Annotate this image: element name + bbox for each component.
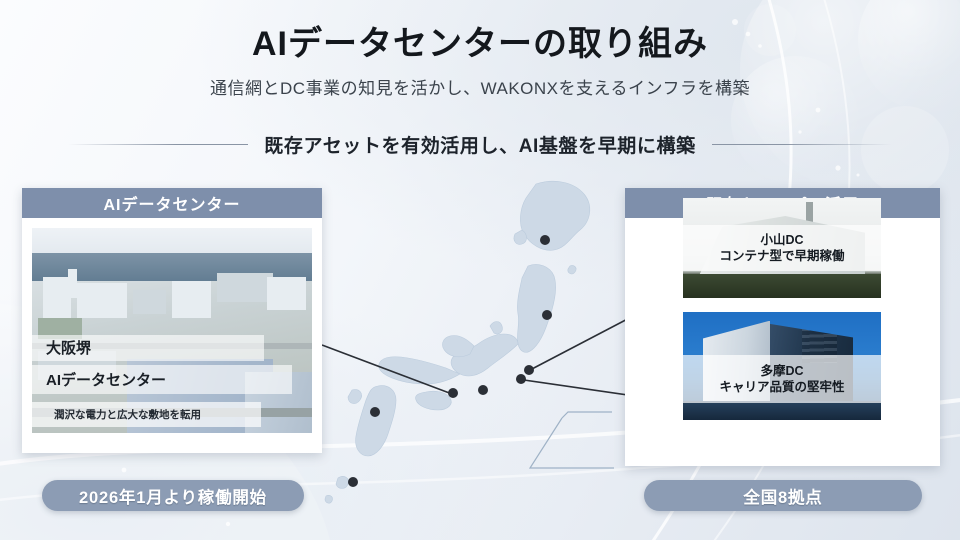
tama-name: 多摩DC [683, 363, 881, 379]
oyama-desc: コンテナ型で早期稼働 [683, 248, 881, 264]
tama-caption: 多摩DC キャリア品質の堅牢性 [683, 355, 881, 403]
oyama-dc-photo: 小山DC コンテナ型で早期稼働 [683, 198, 881, 298]
left-panel-header: AIデータセンター [22, 188, 322, 218]
section-heading-row: 既存アセットを有効活用し、AI基盤を早期に構築 [0, 131, 960, 158]
photo-chimney [68, 269, 76, 298]
photo-building [133, 290, 167, 315]
tama-dc-photo: 多摩DC キャリア品質の堅牢性 [683, 312, 881, 420]
page-subtitle: 通信網とDC事業の知見を活かし、WAKONXを支えるインフラを構築 [0, 74, 960, 99]
photo-chimney [806, 202, 813, 222]
japan-map [322, 178, 642, 518]
section-heading: 既存アセットを有効活用し、AI基盤を早期に構築 [264, 131, 695, 158]
right-panel-card: 既存キャンパス活用 小山DC コンテナ型で早期稼働 多摩DC キャリア品質の堅牢… [625, 188, 940, 466]
section-rule-left [68, 144, 248, 145]
section-rule-right [712, 144, 892, 145]
right-panel-badge: 全国8拠点 [644, 480, 922, 511]
slide-root: AIデータセンターの取り組み 通信網とDC事業の知見を活かし、WAKONXを支え… [0, 0, 960, 540]
osaka-caption-sub: 潤沢な電力と広大な敷地を転用 [32, 402, 261, 427]
photo-building [172, 281, 211, 318]
photo-building [43, 277, 71, 322]
oyama-caption: 小山DC コンテナ型で早期稼働 [683, 225, 881, 271]
tama-desc: キャリア品質の堅牢性 [683, 379, 881, 395]
osaka-datacenter-photo: 大阪堺 AIデータセンター 潤沢な電力と広大な敷地を転用 [32, 228, 312, 433]
photo-building [267, 277, 306, 310]
osaka-caption-line2: AIデータセンター [32, 365, 292, 394]
photo-building [217, 273, 273, 302]
photo-lowrise [683, 401, 881, 420]
photo-trees [683, 274, 881, 298]
left-panel-card: AIデータセンター 大阪堺 AIデータセンター 潤沢な電力と広大な敷地を転用 [22, 188, 322, 453]
page-title: AIデータセンターの取り組み [0, 16, 960, 65]
photo-building [77, 283, 127, 318]
osaka-caption-line1: 大阪堺 [32, 335, 264, 362]
oyama-name: 小山DC [683, 232, 881, 248]
left-panel-badge: 2026年1月より稼働開始 [42, 480, 304, 511]
